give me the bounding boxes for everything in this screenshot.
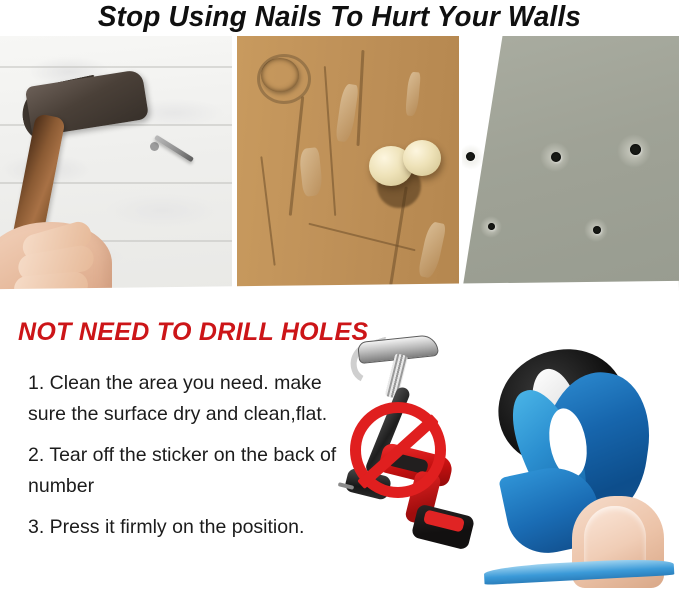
section-title-no-drill: NOT NEED TO DRILL HOLES	[18, 318, 368, 347]
photo-panel-wall-with-nail-holes	[462, 36, 679, 293]
no-drill-prohibition-graphic	[340, 332, 500, 567]
nail-hole	[466, 152, 475, 161]
product-infographic: Stop Using Nails To Hurt Your Walls	[0, 0, 679, 591]
list-item: 3. Press it firmly on the position.	[28, 512, 358, 543]
nail-hole	[630, 144, 641, 155]
page-title: Stop Using Nails To Hurt Your Walls	[14, 0, 666, 34]
nail-head-right	[403, 140, 441, 176]
photo-panel-hammer-on-brick-wall	[0, 36, 232, 293]
nail-head	[150, 142, 159, 151]
nail-hole	[551, 152, 561, 162]
nail-hole	[593, 226, 601, 234]
adhesive-tape-graphic	[488, 346, 670, 586]
instruction-list: 1. Clean the area you need. make sure th…	[28, 368, 358, 553]
list-item: 1. Clean the area you need. make sure th…	[28, 368, 358, 430]
nail-hole	[488, 223, 495, 230]
photo-band	[0, 36, 679, 293]
old-nail-hole	[261, 58, 299, 92]
photo-panel-cracked-paint-with-nails	[237, 36, 459, 293]
bent-nail	[154, 135, 194, 163]
list-item: 2. Tear off the sticker on the back of n…	[28, 440, 358, 502]
